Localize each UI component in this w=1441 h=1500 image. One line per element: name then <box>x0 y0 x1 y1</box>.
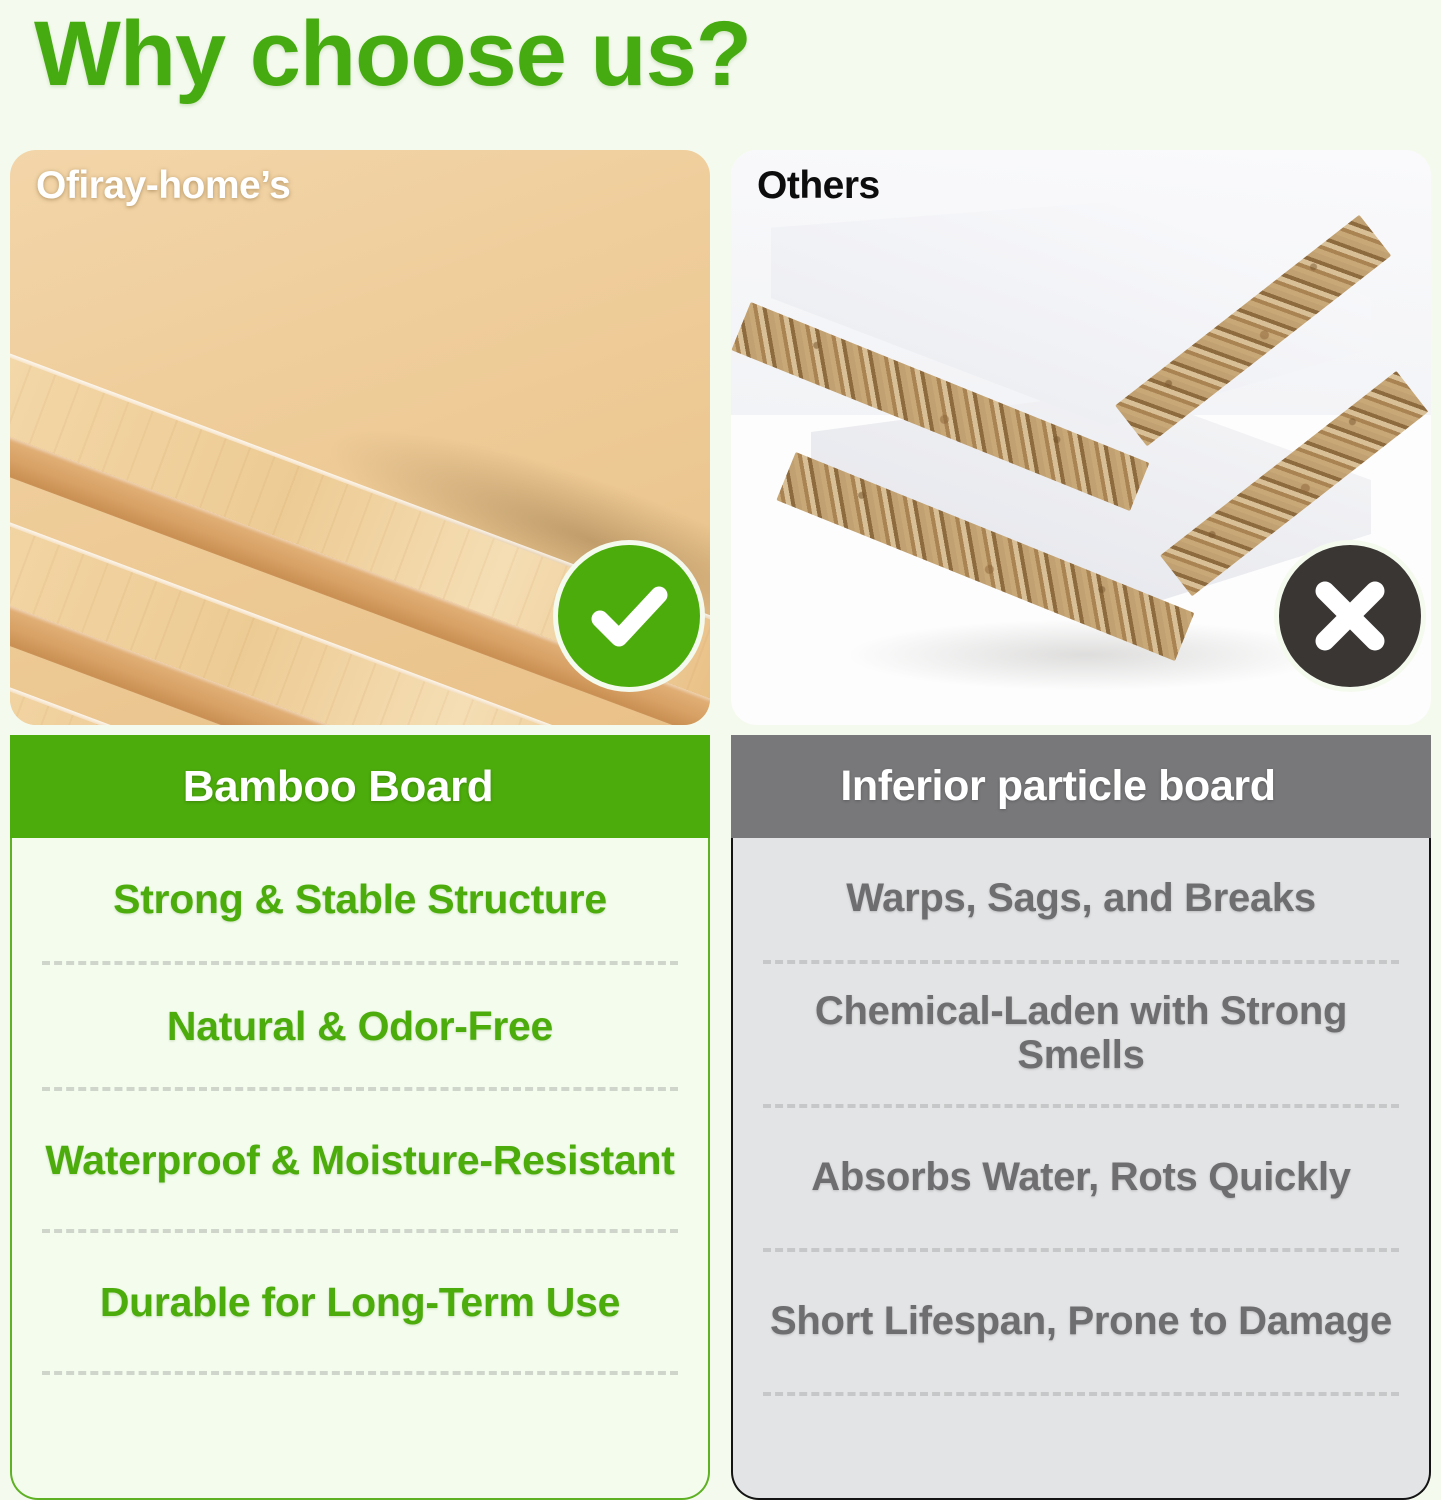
list-divider <box>42 1371 678 1375</box>
column-ofiray-home: Ofiray-home’s Bamboo Board Strong & Stab… <box>10 150 710 1500</box>
list-divider <box>42 961 678 965</box>
cross-circle-icon <box>1279 545 1421 687</box>
feature-list-particle: Warps, Sags, and Breaks Chemical-Laden w… <box>733 838 1429 1396</box>
photo-caption-others: Others <box>757 164 880 208</box>
header-bar-bamboo: Bamboo Board <box>10 735 710 838</box>
list-item: Durable for Long-Term Use <box>38 1233 682 1371</box>
list-divider <box>42 1087 678 1091</box>
column-others: Others Inferior particle board Warps, Sa… <box>731 150 1431 1500</box>
page-title: Why choose us? <box>34 6 751 103</box>
feature-list-card-bamboo: Strong & Stable Structure Natural & Odor… <box>10 838 710 1500</box>
list-item: Warps, Sags, and Breaks <box>759 838 1403 960</box>
check-circle-icon <box>558 545 700 687</box>
header-label-inferior-particle-board: Inferior particle board <box>840 762 1275 811</box>
list-item: Absorbs Water, Rots Quickly <box>759 1108 1403 1248</box>
photo-caption-ofiray: Ofiray-home’s <box>36 164 290 208</box>
list-divider <box>42 1229 678 1233</box>
list-item: Strong & Stable Structure <box>38 838 682 961</box>
list-item: Waterproof & Moisture-Resistant <box>38 1091 682 1229</box>
list-divider <box>763 1104 1399 1108</box>
list-divider <box>763 960 1399 964</box>
list-item: Chemical-Laden with Strong Smells <box>759 964 1403 1104</box>
feature-list-bamboo: Strong & Stable Structure Natural & Odor… <box>12 838 708 1375</box>
header-label-bamboo-board: Bamboo Board <box>183 762 494 812</box>
list-item: Natural & Odor-Free <box>38 965 682 1087</box>
list-divider <box>763 1248 1399 1252</box>
feature-list-card-particle: Warps, Sags, and Breaks Chemical-Laden w… <box>731 838 1431 1500</box>
header-bar-particle: Inferior particle board <box>731 735 1431 838</box>
photo-shadow <box>851 620 1321 690</box>
list-divider <box>763 1392 1399 1396</box>
comparison-infographic: Why choose us? Ofiray-home’s <box>0 0 1441 1500</box>
list-item: Short Lifespan, Prone to Damage <box>759 1252 1403 1392</box>
